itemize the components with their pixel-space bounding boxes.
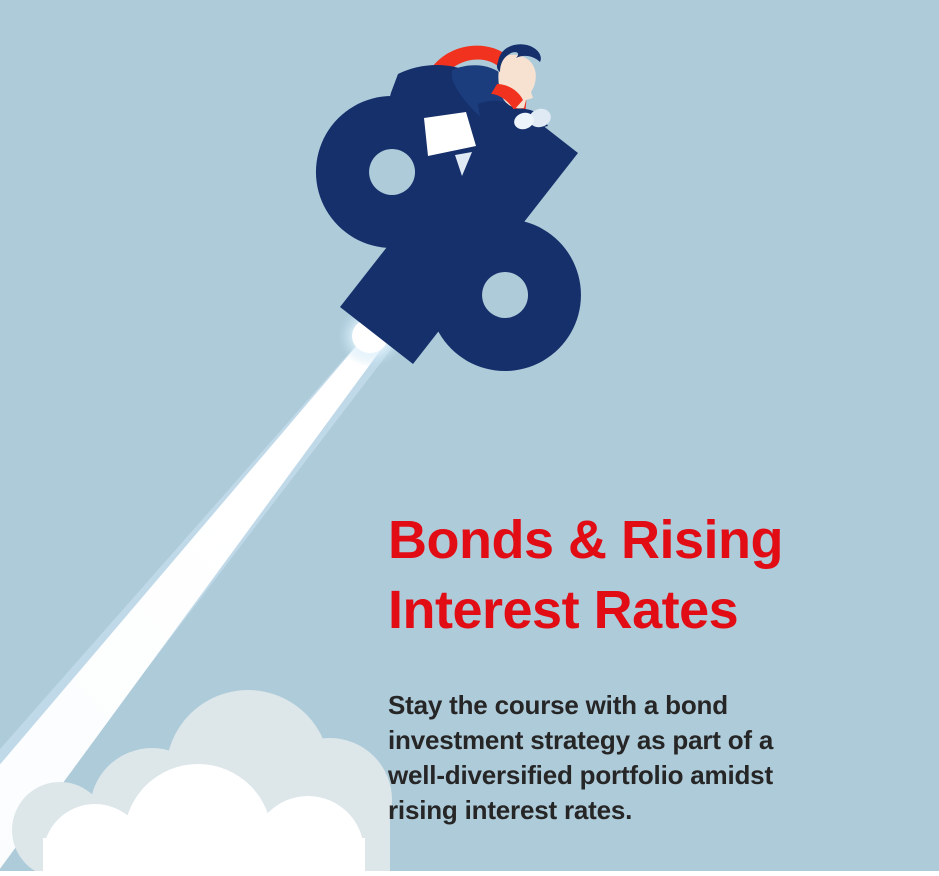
bottom-white-band bbox=[0, 871, 939, 876]
percent-ring-lower bbox=[429, 219, 581, 371]
subtitle-text: Stay the course with a bond investment s… bbox=[388, 645, 858, 828]
text-block: Bonds & Rising Interest Rates Stay the c… bbox=[388, 505, 858, 828]
page-title: Bonds & Rising Interest Rates bbox=[388, 505, 858, 645]
poster: Bonds & Rising Interest Rates Stay the c… bbox=[0, 0, 939, 876]
